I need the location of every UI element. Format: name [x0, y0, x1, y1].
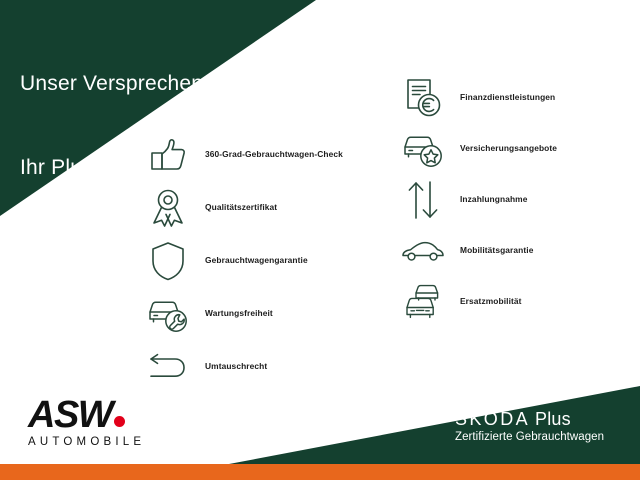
asw-subtitle: AUTOMOBILE [28, 436, 158, 448]
feature-item-mobility-guarantee: Mobilitätsgarantie [400, 225, 635, 276]
feature-label: Inzahlungnahme [460, 194, 527, 205]
headline-line-1: Unser Versprechen. [20, 70, 209, 98]
feature-item-financial-services: Finanzdienstleistungen [400, 72, 635, 123]
skoda-brand-label: ŠKODA [455, 409, 530, 429]
feature-item-warranty: Gebrauchtwagengarantie [145, 234, 375, 287]
car-star-icon [400, 126, 446, 172]
award-rosette-icon [145, 185, 191, 231]
feature-label: Mobilitätsgarantie [460, 245, 533, 256]
feature-item-quality-certificate: Qualitätszertifikat [145, 181, 375, 234]
feature-label: Finanzdienstleistungen [460, 92, 555, 103]
two-cars-icon [400, 279, 446, 325]
feature-item-exchange-right: Umtauschrecht [145, 340, 375, 393]
thumbs-up-icon [145, 132, 191, 178]
feature-label: Qualitätszertifikat [205, 202, 277, 213]
car-side-icon [400, 228, 446, 274]
feature-label: Versicherungsangebote [460, 143, 557, 154]
feature-label: Umtauschrecht [205, 361, 267, 372]
feature-label: Gebrauchtwagengarantie [205, 255, 308, 266]
skoda-tagline: Zertifizierte Gebrauchtwagen [455, 430, 604, 444]
asw-wordmark-text: ASW [28, 396, 158, 434]
feature-label: Ersatzmobilität [460, 296, 522, 307]
asw-red-dot-icon [114, 416, 125, 427]
feature-list-right: Finanzdienstleistungen Versicherungsange… [400, 72, 635, 327]
feature-item-maintenance-free: Wartungsfreiheit [145, 287, 375, 340]
orange-footer-bar [0, 464, 640, 480]
feature-list-left: 360-Grad-Gebrauchtwagen-Check Qualitätsz… [145, 128, 375, 393]
skoda-plus-logo: ŠKODAPlus Zertifizierte Gebrauchtwagen [455, 409, 604, 444]
asw-wordmark-label: ASW [28, 394, 112, 436]
shield-icon [145, 238, 191, 284]
skoda-plus-label: Plus [535, 409, 571, 429]
feature-item-360-check: 360-Grad-Gebrauchtwagen-Check [145, 128, 375, 181]
feature-item-insurance-offers: Versicherungsangebote [400, 123, 635, 174]
return-arrow-icon [145, 344, 191, 390]
document-euro-icon [400, 75, 446, 121]
car-wrench-icon [145, 291, 191, 337]
feature-item-replacement-mobility: Ersatzmobilität [400, 276, 635, 327]
feature-label: Wartungsfreiheit [205, 308, 273, 319]
feature-label: 360-Grad-Gebrauchtwagen-Check [205, 149, 343, 160]
asw-logo: ASW AUTOMOBILE [28, 396, 158, 448]
promo-banner: Unser Versprechen. Ihr Plus. 360-Grad-Ge… [0, 0, 640, 480]
arrows-up-down-icon [400, 177, 446, 223]
feature-item-trade-in: Inzahlungnahme [400, 174, 635, 225]
skoda-logo-line-1: ŠKODAPlus [455, 409, 604, 429]
